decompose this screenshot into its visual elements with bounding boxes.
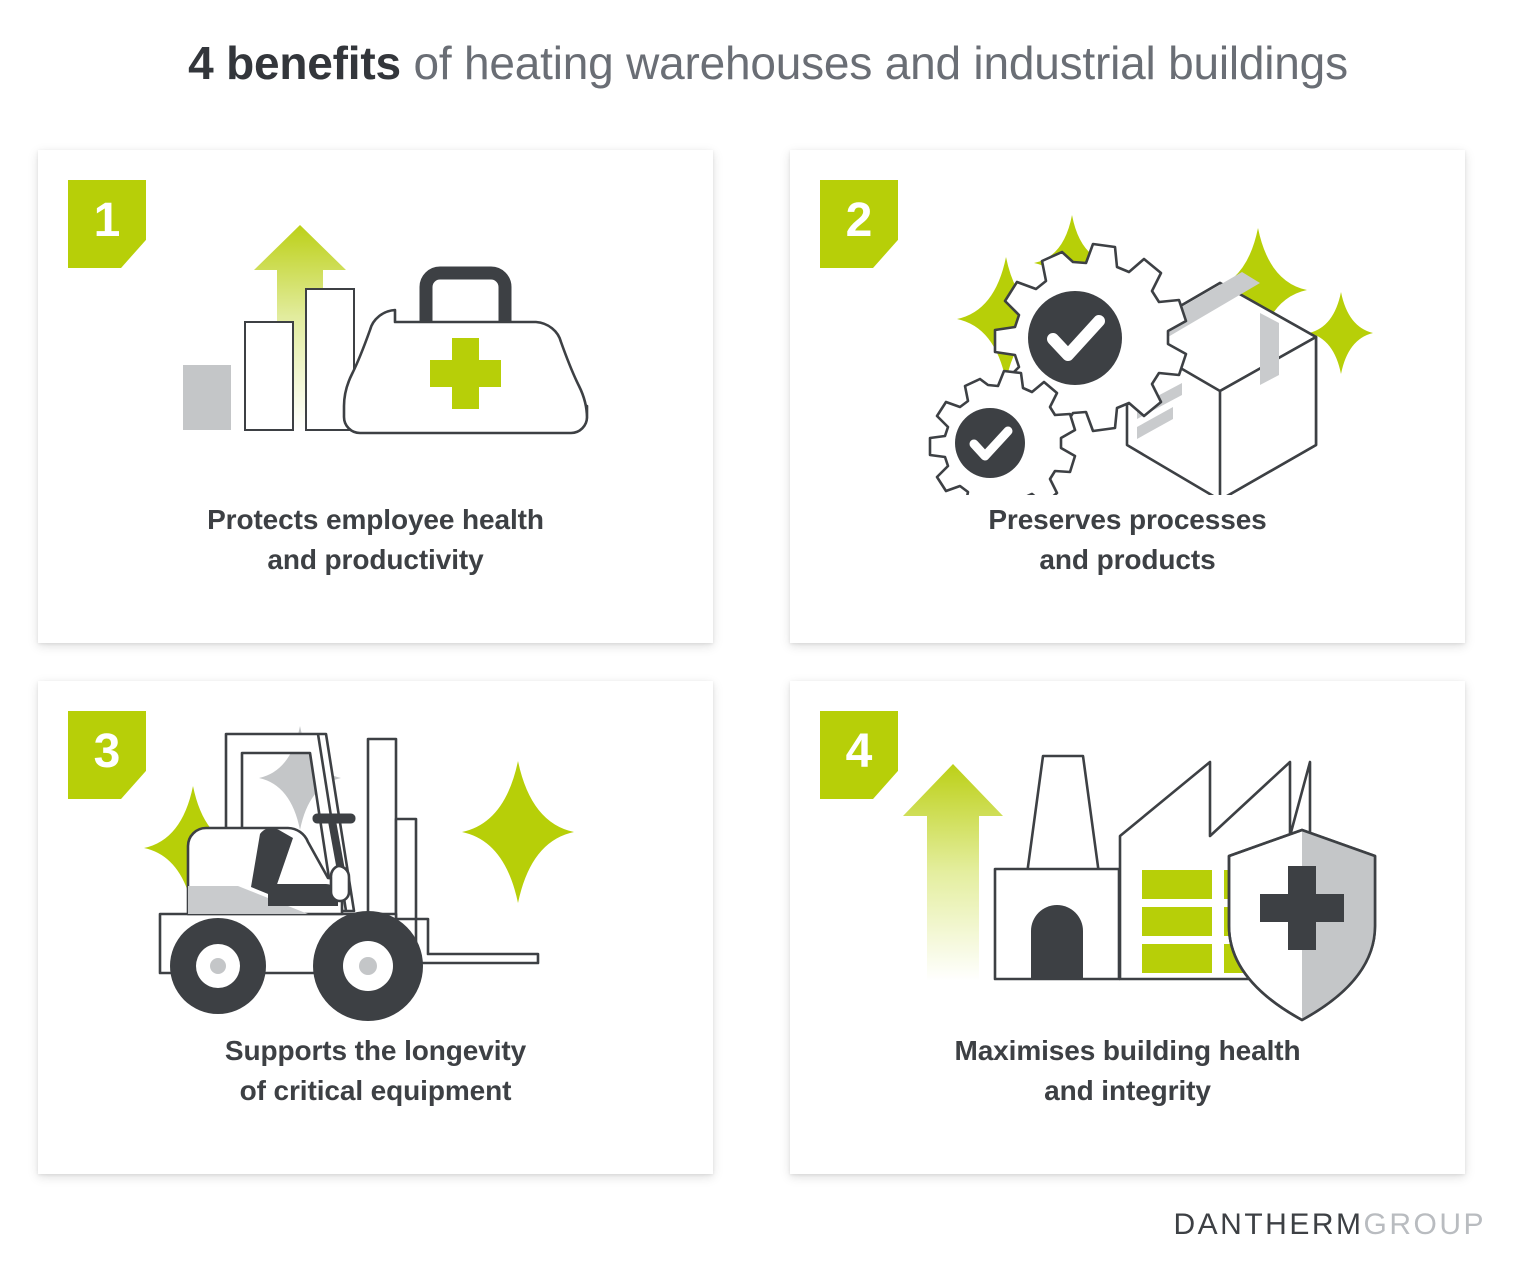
factory-door: [1031, 905, 1083, 979]
benefit-card-2[interactable]: 2: [790, 150, 1465, 643]
shield-cross-icon: [1229, 830, 1375, 1020]
factory-shield-illustration: [790, 726, 1465, 1026]
bar-1: [183, 365, 231, 430]
card-illustration-3: [38, 726, 713, 1026]
caption-line-2: of critical equipment: [38, 1071, 713, 1111]
card-caption-4: Maximises building health and integrity: [790, 1031, 1465, 1111]
caption-line-1: Protects employee health: [38, 500, 713, 540]
dantherm-group-logo: DANTHERMGROUP: [1173, 1208, 1486, 1242]
medical-bag-icon: [344, 273, 587, 433]
sparkle-icon: [462, 761, 574, 903]
benefits-grid: 1: [38, 150, 1498, 1160]
logo-group: GROUP: [1363, 1208, 1486, 1241]
gears-box-illustration: [790, 195, 1465, 495]
benefit-card-3[interactable]: 3: [38, 681, 713, 1174]
page-title: 4 benefits of heating warehouses and ind…: [0, 36, 1536, 90]
logo-dantherm: DANTHERM: [1173, 1208, 1363, 1241]
caption-line-2: and integrity: [790, 1071, 1465, 1111]
benefit-card-4[interactable]: 4: [790, 681, 1465, 1174]
card-illustration-1: [38, 195, 713, 495]
forklift-wheel: [170, 918, 266, 1014]
caption-line-1: Preserves processes: [790, 500, 1465, 540]
bar-2: [245, 322, 293, 430]
forklift-wheel: [313, 911, 423, 1021]
card-caption-1: Protects employee health and productivit…: [38, 500, 713, 580]
card-caption-3: Supports the longevity of critical equip…: [38, 1031, 713, 1111]
card-caption-2: Preserves processes and products: [790, 500, 1465, 580]
forklift-illustration: [38, 726, 713, 1026]
box-tape-side: [1260, 313, 1279, 385]
caption-line-1: Maximises building health: [790, 1031, 1465, 1071]
bar-chart-icon: [183, 289, 354, 430]
caption-line-1: Supports the longevity: [38, 1031, 713, 1071]
page-title-rest: of heating warehouses and industrial bui…: [401, 37, 1348, 89]
up-arrow-gradient-icon: [903, 764, 1003, 981]
card-illustration-4: [790, 726, 1465, 1026]
caption-line-2: and products: [790, 540, 1465, 580]
card-illustration-2: [790, 195, 1465, 495]
benefit-card-1[interactable]: 1: [38, 150, 713, 643]
gear-check-small-icon: [930, 371, 1075, 495]
caption-line-2: and productivity: [38, 540, 713, 580]
page-title-bold: 4 benefits: [188, 37, 401, 89]
bar-chart-medical-bag-illustration: [38, 195, 713, 495]
